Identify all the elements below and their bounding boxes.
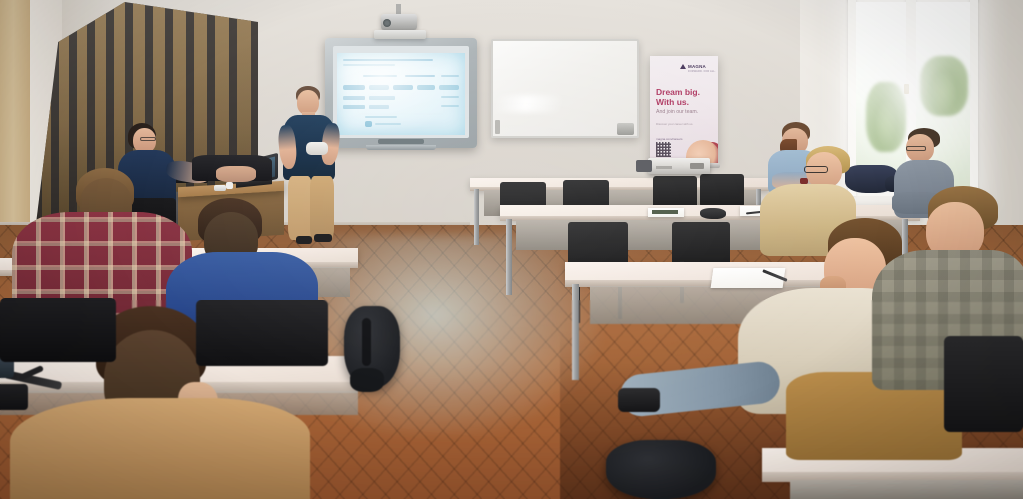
av-receiver-display [690,163,704,169]
projected-slide-screen[interactable] [337,53,465,135]
presenter-left-shoe [296,236,312,244]
smartboard-pen-tray[interactable] [378,139,424,144]
qr-code-icon[interactable] [656,142,671,157]
cable-bundle [636,160,652,172]
whiteboard-eraser[interactable] [617,123,634,135]
projector-mount-plate [374,30,426,39]
person-behind-desk-arm [216,166,256,182]
classroom-photo-scene: MAGNA FORWARD. FOR ALL. Dream big. With … [0,0,1023,499]
blond-attendee-glasses-icon [804,166,828,173]
banner-logo: MAGNA [680,64,706,69]
banner-brand-tagline: FORWARD. FOR ALL. [688,70,716,73]
presenter-left-leg [288,176,312,240]
foliage-right [920,56,968,116]
window-handle-icon[interactable] [904,84,909,94]
chair-left-front[interactable] [196,300,328,366]
presenter-right-shoe [314,234,332,242]
magna-triangle-icon [680,64,686,69]
presenter-clicker[interactable] [306,142,328,155]
banner-subhead: And join our team. [656,109,714,115]
notebook-mid-desk-cover [652,210,678,214]
smartphone[interactable] [214,185,226,191]
presenter-right-leg [310,176,334,240]
magna-rollup-banner: MAGNA FORWARD. FOR ALL. Dream big. With … [650,56,718,164]
door-frame-left [0,0,32,246]
grey-attendee-glasses-icon [906,146,926,151]
banner-brand-name: MAGNA [688,64,706,69]
seated-host-glasses-icon [140,137,156,141]
backpack-floor-right[interactable] [606,440,716,499]
banner-body-text: Discover your career with us. [656,122,702,126]
backpack-floor-left-strap [362,318,371,366]
banner-url: magna.com/careers [656,137,683,141]
screen-glare [337,53,465,135]
chair-left-back[interactable] [0,298,116,362]
notebook-front-desk[interactable] [711,268,786,288]
whiteboard-glare [496,95,562,112]
banner-headline: Dream big. With us. [656,88,714,107]
small-white-object [226,182,233,189]
camel-attendee-coat [10,398,310,499]
backpack-floor-left-pocket [350,368,384,392]
dark-object-on-desk[interactable] [0,384,28,410]
banner-headline-line2: With us. [656,98,714,108]
smartboard-lower-tray [366,145,436,150]
projector-lens-icon [383,19,391,27]
cream-attendee-shoe [618,388,660,412]
foliage-left [866,82,906,152]
chair-far-right[interactable] [944,336,1023,432]
av-receiver-label [656,166,672,169]
glasses-case[interactable] [700,208,726,219]
whiteboard-marker[interactable] [495,120,500,134]
